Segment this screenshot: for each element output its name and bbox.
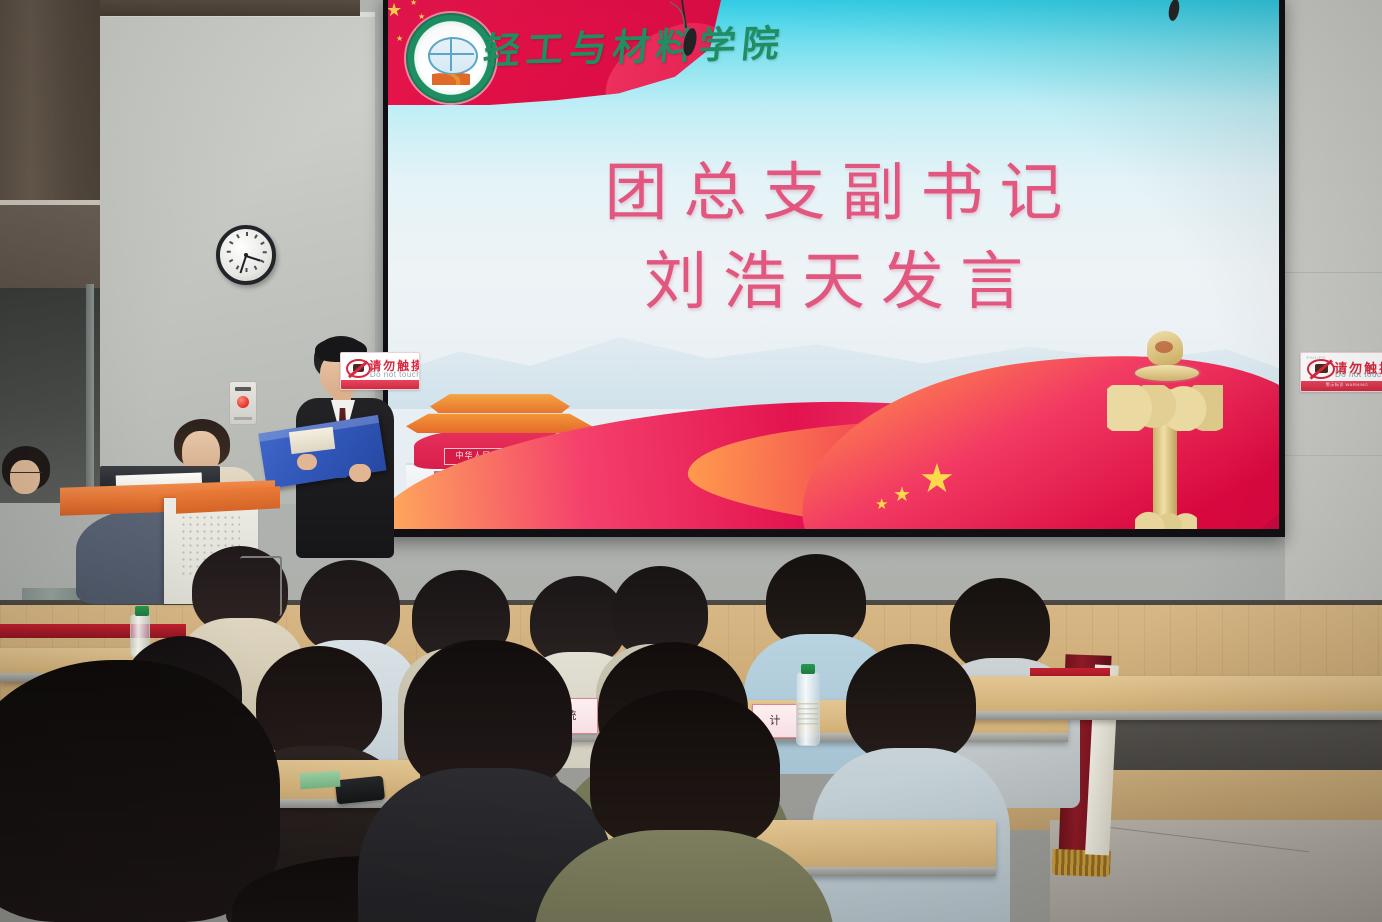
emblem-leaves-icon <box>432 65 470 85</box>
huabiao-plate <box>1133 363 1201 383</box>
sign-footer-text: 警示标识 WARNING <box>1301 381 1382 389</box>
audience-member-front <box>404 640 572 840</box>
slide-title-line-1: 团总支副书记 <box>388 149 1279 238</box>
smartphone-on-desk[interactable] <box>335 776 385 805</box>
presenter-right-hand <box>349 464 371 482</box>
clock-center-pin <box>244 253 248 257</box>
head <box>846 644 976 764</box>
sign-text-en: Do not touch <box>370 370 420 379</box>
presenter-left-hand <box>297 454 317 470</box>
speaker-slot-icon <box>235 387 251 391</box>
wood-wall-panel <box>0 0 100 205</box>
no-touch-icon <box>346 359 370 378</box>
bottle-ribs <box>798 703 818 727</box>
door-frame <box>86 284 94 506</box>
folder-paper <box>289 427 335 454</box>
chair-frame <box>240 556 282 616</box>
bottle-cap <box>801 664 815 674</box>
slide-flag-stars-icon: ★ ★ ★ <box>879 453 1049 513</box>
wall-clock-icon <box>216 225 276 285</box>
head <box>590 690 780 850</box>
wall-seam <box>1285 272 1382 273</box>
huabiao-beast-icon <box>1147 331 1183 365</box>
hanging-microphone-icon <box>660 0 720 80</box>
do-not-touch-sign-right: PHILIPS 请勿触摸 Do not touch 警示标识 WARNING <box>1300 352 1382 392</box>
bottle-cap <box>135 606 149 616</box>
college-name-text: 轻工与材料学院 <box>481 13 788 75</box>
sign-footer-bar: 警示标识 WARNING <box>1301 381 1382 391</box>
desk-edge <box>930 711 1382 720</box>
audience-member <box>846 644 976 804</box>
audience-member-front-olive <box>590 690 780 920</box>
notebook-on-desk <box>299 771 340 790</box>
do-not-touch-sign-left: 请勿触摸 Do not touch <box>340 352 420 390</box>
water-bottle <box>796 672 820 746</box>
wall-seam <box>1285 455 1382 456</box>
huabiao-column-icon <box>1109 329 1219 529</box>
tiananmen-roof-upper <box>430 391 570 413</box>
huabiao-lower-cloud <box>1135 509 1197 529</box>
red-alarm-button-icon[interactable] <box>237 396 249 408</box>
led-display-frame: ★ ★ ★ ★ ★ 轻工与材料学院 团总支副书记 刘浩天发言 <box>383 0 1285 537</box>
wood-ceiling-trim <box>100 0 360 16</box>
huabiao-cloud-wings <box>1107 385 1223 431</box>
sign-text-en: Do not touch <box>1335 370 1382 379</box>
right-wall-panels <box>1285 0 1382 612</box>
no-touch-icon <box>1307 359 1335 379</box>
led-display-screen[interactable]: ★ ★ ★ ★ ★ 轻工与材料学院 团总支副书记 刘浩天发言 <box>388 0 1279 529</box>
floor-crack <box>1091 825 1309 853</box>
hanging-microphone-icon-2 <box>1160 0 1200 40</box>
screenshot-root: PHILIPS 请勿触摸 Do not touch 警示标识 WARNING 请… <box>0 0 1382 922</box>
desk-row-right <box>930 676 1382 720</box>
slide-title-block: 团总支副书记 刘浩天发言 <box>388 149 1279 328</box>
clock-hour-hand <box>246 255 261 262</box>
staff-glasses-icon <box>10 472 42 479</box>
sign-footer-bar <box>341 380 419 389</box>
slide-title-line-2: 刘浩天发言 <box>388 238 1279 327</box>
seated-staff-far-left <box>0 446 66 516</box>
